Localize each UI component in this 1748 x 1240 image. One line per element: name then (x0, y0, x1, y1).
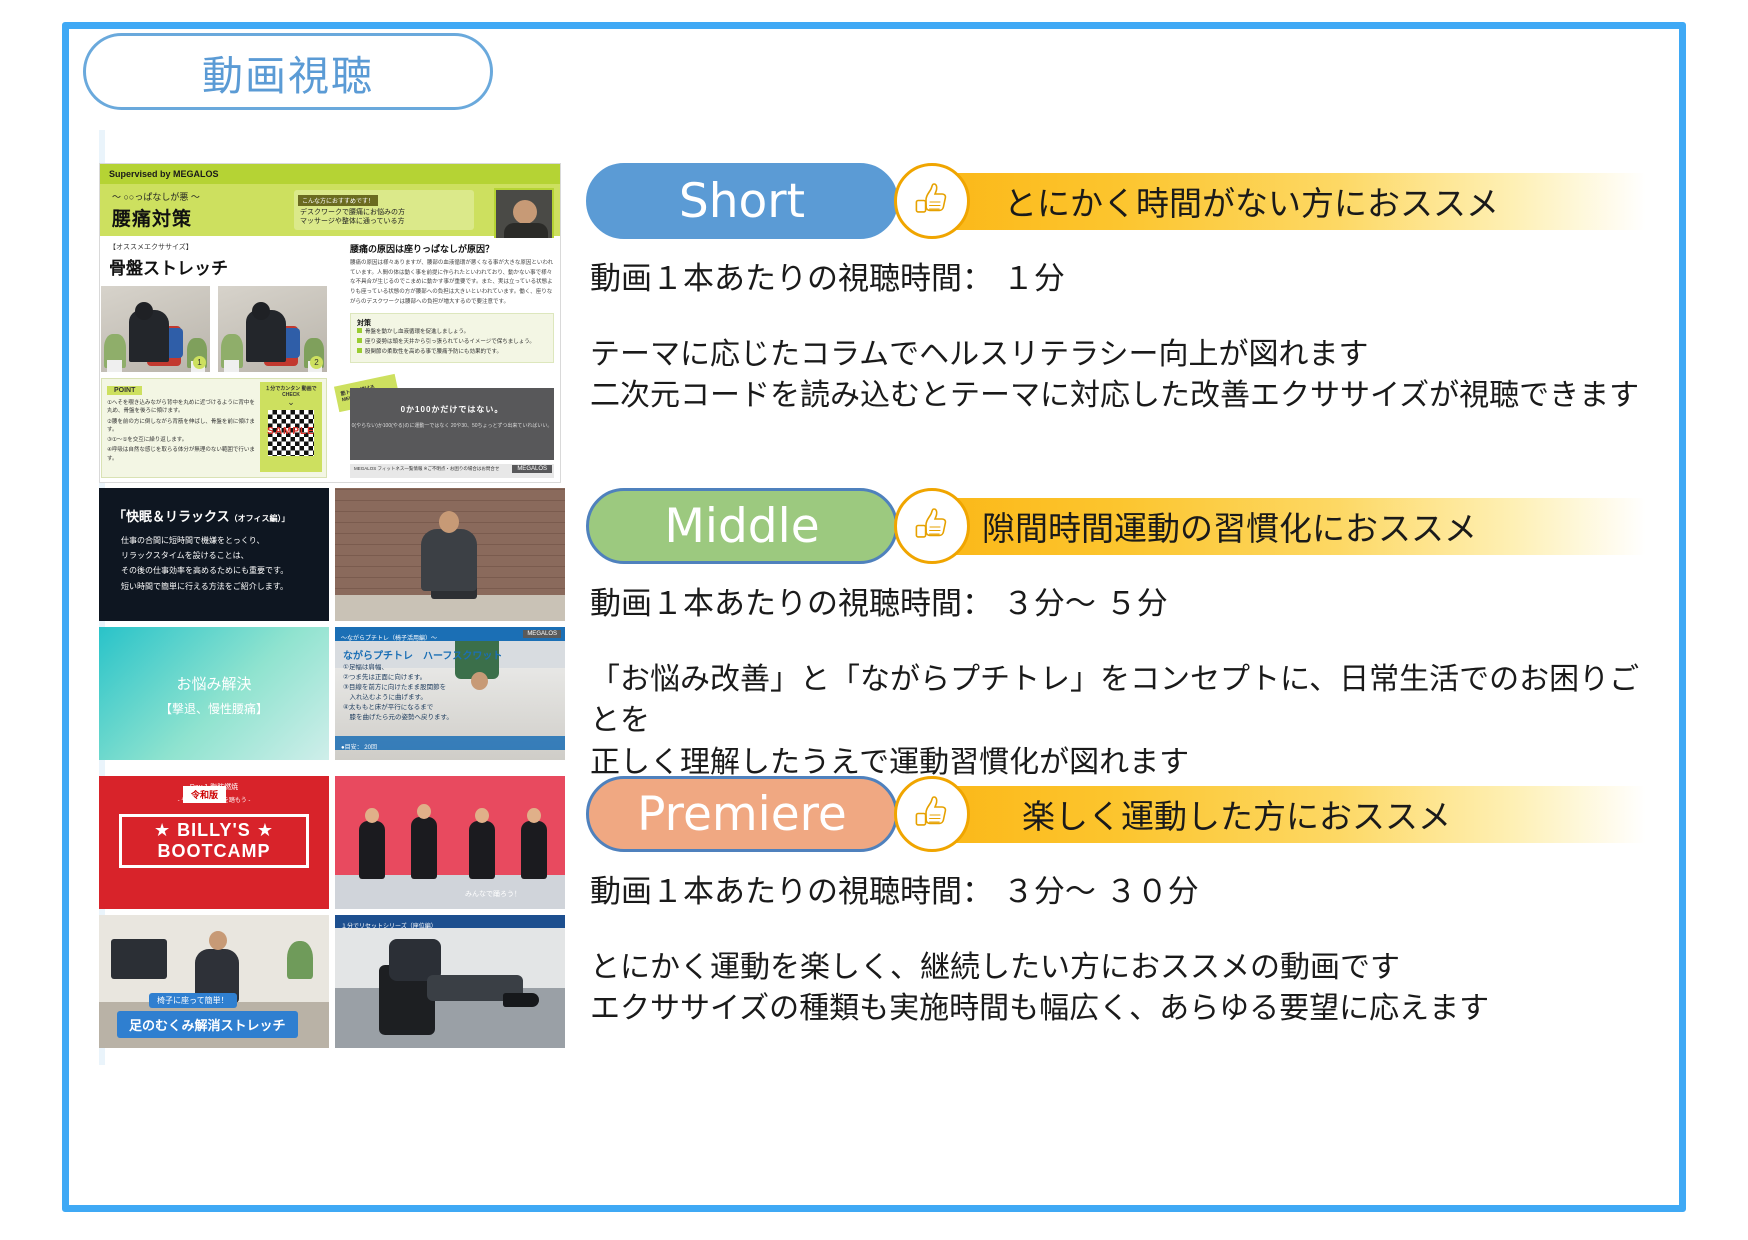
duration-short: 動画１本あたりの視聴時間： １分 (590, 253, 1646, 298)
thumbnail-middle-1[interactable]: 「快眠＆リラックス（オフィス編）」 仕事の合間に短時間で機嫌をとっくり、 リラッ… (99, 488, 329, 621)
description-middle: 「お悩み改善」と「ながらプチトレ」をコンセプトに、日常生活でのお困りごとを 正し… (590, 659, 1646, 783)
doc-column-body: 腰痛の原因は様々ありますが、腰部の血液循環が悪くなる事が大きな原因といわれていま… (350, 259, 554, 307)
category-pill-middle[interactable]: Middle (586, 488, 898, 564)
recommend-banner-premiere: 楽しく運動した方におススメ (912, 786, 1646, 843)
thumbnail-middle-3[interactable]: お悩み解決 【撃退、慢性腰痛】 (99, 627, 329, 760)
person-head-shape (471, 672, 488, 690)
doc-column-title: 腰痛の原因は座りっぱなしが原因？ (350, 242, 554, 255)
premiere3-tag: 椅子に座って簡単！ (149, 993, 237, 1008)
doc-header: 〜 ○○っぱなしが悪 〜 腰痛対策 こんな方におすすめです！ デスクワークで腰痛… (100, 184, 560, 236)
doc-measure-text: 股関節の柔軟性を高める事で腰痛予防にも効果的です。 (365, 349, 502, 355)
doc-quote-box: 0か100かだけではない。 0(やらない)か100(やる)のに運動一ではなく 2… (350, 388, 554, 460)
description-line: とにかく運動を楽しく、継続したい方におススメの動画です (590, 947, 1646, 988)
person-head-shape (252, 302, 270, 320)
thumbnail-premiere-1[interactable]: 令和版 ★ BILLY'S ★ BOOTCAMP Day 1 脂肪燃焼 - やる… (99, 776, 329, 909)
doc-left-column: 【オススメエクササイズ】 骨盤ストレッチ (109, 242, 341, 279)
doc-footer-brand: MEGALOS (512, 465, 552, 473)
doc-exercise-kicker: 【オススメエクササイズ】 (109, 242, 341, 252)
middle4-title: ながらプチトレ ハーフスクワット (343, 647, 502, 662)
recommend-text-premiere: 楽しく運動した方におススメ (1022, 790, 1451, 838)
thumbnail-premiere-3[interactable]: 椅子に座って簡単！ 足のむくみ解消ストレッチ (99, 915, 329, 1048)
middle4-item: ④太ももと床が平行になるまで (343, 701, 433, 711)
thumbnail-middle-4[interactable]: 〜ながらプチトレ（椅子活用編）〜 MEGALOS ながらプチトレ ハーフスクワッ… (335, 627, 565, 760)
middle1-line: リラックスタイムを設けることは、 (121, 548, 329, 563)
thumbs-up-icon (894, 776, 970, 852)
content-short: Short とにかく時間がない方におススメ 動画１本あたりの視聴時間： １分 テ… (586, 163, 1646, 417)
category-label: Premiere (637, 787, 847, 842)
doc-target-item: マッサージや整体に通っている方 (300, 217, 474, 226)
recommend-banner-middle: 隙間時間運動の習慣化におススメ (912, 498, 1646, 555)
person-head-shape (365, 808, 379, 823)
doc-right-column: 腰痛の原因は座りっぱなしが原因？ 腰痛の原因は様々ありますが、腰部の血液循環が悪… (350, 242, 554, 363)
middle4-item: 入れ込むように曲げます。 (343, 691, 427, 701)
description-line: エクササイズの種類も実施時間も幅広く、あらゆる要望に応えます (590, 988, 1646, 1029)
middle4-item: ②つま先は正面に向けます。 (343, 671, 426, 681)
monitor-icon (111, 939, 167, 979)
premiere4-header-bar: １分でリセットシリーズ（座位編） (335, 915, 565, 928)
doc-supervised-text: Supervised by MEGALOS (109, 164, 219, 184)
person-shape (521, 821, 547, 879)
middle1-line: 短い時間で簡単に行える方法をご紹介します。 (121, 579, 329, 594)
section-middle: 「快眠＆リラックス（オフィス編）」 仕事の合間に短時間で機嫌をとっくり、 リラッ… (99, 488, 1644, 771)
section-premiere: 令和版 ★ BILLY'S ★ BOOTCAMP Day 1 脂肪燃焼 - やる… (99, 776, 1644, 1061)
pot-shape (224, 360, 239, 372)
plant-icon (287, 941, 313, 979)
floor-shape (335, 875, 565, 909)
doc-supervised-bar: Supervised by MEGALOS (100, 164, 560, 184)
person-shape (469, 821, 495, 879)
doc-point-label: POINT (107, 386, 142, 395)
slide-root: 動画視聴 Supervised by MEGALOS 〜 ○○っぱなしが悪 〜 … (0, 0, 1748, 1240)
doc-footer: MEGALOS MEGALOS フィットネス一覧情報 ※ご不明点・お困りの場合は… (350, 464, 554, 478)
doc-photo-2: 2 (218, 286, 327, 372)
middle3-line1: お悩み解決 (99, 673, 329, 694)
recommend-text-middle: 隙間時間運動の習慣化におススメ (982, 502, 1477, 550)
recommend-banner-short: とにかく時間がない方におススメ (912, 173, 1646, 230)
premiere4-header-text: １分でリセットシリーズ（座位編） (341, 924, 437, 930)
thumbnail-short-document[interactable]: Supervised by MEGALOS 〜 ○○っぱなしが悪 〜 腰痛対策 … (99, 163, 561, 483)
recommend-text-short: とにかく時間がない方におススメ (1004, 177, 1499, 225)
badge-row-short: Short とにかく時間がない方におススメ (586, 163, 1646, 239)
bullet-icon (357, 338, 362, 343)
doc-quote-body: 0(やらない)か100(やる)のに運動一ではなく 20や30、50ちょっとずつ出… (350, 422, 554, 430)
thumbnail-premiere-4[interactable]: １分でリセットシリーズ（座位編） (335, 915, 565, 1048)
doc-measure-item: 座り姿勢は頭を天井から引っ張られているイメージで保ちましょう。 (357, 338, 547, 348)
premiere1-brand-line2: BOOTCAMP (122, 841, 306, 862)
doc-measure-text: 座り姿勢は頭を天井から引っ張られているイメージで保ちましょう。 (365, 339, 535, 345)
middle4-header-text: 〜ながらプチトレ（椅子活用編）〜 (341, 636, 437, 642)
page-title-pill: 動画視聴 (83, 33, 493, 110)
thumbs-up-icon (894, 163, 970, 239)
person-shape (359, 821, 385, 879)
doc-qr-watermark: SAMPLE (266, 426, 316, 437)
doc-point-line: ③①〜①を交互に繰り返します。 (107, 436, 255, 444)
thumbnail-middle-2[interactable] (335, 488, 565, 621)
content-premiere: Premiere 楽しく運動した方におススメ 動画１本あたりの視聴時間： ３分〜… (586, 776, 1646, 1030)
page-title: 動画視聴 (202, 42, 374, 102)
thumbs-up-icon (894, 488, 970, 564)
duration-premiere: 動画１本あたりの視聴時間： ３分〜 ３０分 (590, 866, 1646, 911)
description-line: テーマに応じたコラムでヘルスリテラシー向上が図れます (590, 334, 1646, 375)
doc-qr-panel[interactable]: １分でカンタン 動画で CHECK ⌄ SAMPLE (260, 382, 322, 472)
doc-measures-box: 対策 骨盤を動かし血液循環を促進しましょう。 座り姿勢は頭を天井から引っ張られて… (350, 313, 554, 363)
middle4-footer-1: ●目安： 20回 (341, 745, 377, 751)
doc-exercise-title: 骨盤ストレッチ (109, 254, 341, 279)
doc-measure-item: 股関節の柔軟性を高める事で腰痛予防にも効果的です。 (357, 348, 547, 358)
doc-target-tag: こんな方におすすめです！ (298, 195, 378, 206)
middle1-title-sub: （オフィス編）」 (230, 514, 290, 523)
middle4-item: ①足幅は肩幅、 (343, 661, 388, 671)
category-label: Middle (664, 499, 819, 554)
person-head-shape (439, 511, 459, 533)
badge-row-middle: Middle 隙間時間運動の習慣化におススメ (586, 488, 1646, 564)
person-head-shape (135, 302, 153, 320)
doc-point-line: ④呼吸は自然な感じを取らる体分が無理のない範囲で行います。 (107, 446, 255, 463)
category-label: Short (679, 174, 805, 229)
bullet-icon (357, 328, 362, 333)
description-line: 二次元コードを読み込むとテーマに対応した改善エクササイズが視聴できます (590, 375, 1646, 416)
photo-step-number: 2 (310, 356, 323, 369)
badge-row-premiere: Premiere 楽しく運動した方におススメ (586, 776, 1646, 852)
description-line: 「お悩み改善」と「ながらプチトレ」をコンセプトに、日常生活でのお困りごとを (590, 659, 1646, 742)
doc-measure-item: 骨盤を動かし血液循環を促進しましょう。 (357, 328, 547, 338)
middle1-line: その後の仕事効率を高めるためにも重要です。 (121, 563, 329, 578)
premiere1-brand-box: ★ BILLY'S ★ BOOTCAMP (119, 814, 309, 868)
doc-point-box: POINT ①へそを覗き込みながら背中を丸めに近づけるように背中を丸め、骨盤を後… (101, 378, 327, 478)
middle1-line: 仕事の合間に短時間で機嫌をとっくり、 (121, 533, 329, 548)
doc-photo-1: 1 (101, 286, 210, 372)
doc-measure-text: 骨盤を動かし血液循環を促進しましょう。 (365, 329, 469, 335)
doc-target-box: こんな方におすすめです！ デスクワークで腰痛にお悩みの方 マッサージや整体に通っ… (294, 190, 474, 230)
description-short: テーマに応じたコラムでヘルスリテラシー向上が図れます 二次元コードを読み込むとテ… (590, 334, 1646, 417)
doc-point-line: ①へそを覗き込みながら背中を丸めに近づけるように背中を丸め、骨盤を後ろに傾けます… (107, 399, 255, 416)
category-pill-premiere[interactable]: Premiere (586, 776, 898, 852)
middle4-brand: MEGALOS (523, 630, 561, 638)
content-middle: Middle 隙間時間運動の習慣化におススメ 動画１本あたりの視聴時間： ３分〜… (586, 488, 1646, 783)
doc-quote-title: 0か100かだけではない。 (350, 404, 554, 415)
premiere3-title: 足のむくみ解消ストレッチ (117, 1011, 298, 1038)
middle3-line2: 【撃退、慢性腰痛】 (99, 700, 329, 717)
middle4-item: 膝を曲げたら元の姿勢へ戻ります。 (343, 711, 453, 721)
premiere2-caption: みんなで踊ろう！ (465, 889, 521, 899)
middle1-title: 「快眠＆リラックス（オフィス編）」 (113, 506, 329, 525)
pot-shape (107, 360, 122, 372)
middle4-footer-bar: ●目安： 20回 (335, 736, 565, 750)
doc-target-item: デスクワークで腰痛にお悩みの方 (300, 208, 474, 217)
thumbnail-premiere-2[interactable]: みんなで踊ろう！ (335, 776, 565, 909)
duration-middle: 動画１本あたりの視聴時間： ３分〜 ５分 (590, 578, 1646, 623)
middle4-item: ③目線を前方に向けたまま股関節を (343, 681, 446, 691)
chevron-down-icon: ⌄ (260, 398, 322, 406)
photo-step-number: 1 (193, 356, 206, 369)
doc-measures-head: 対策 (357, 318, 547, 328)
shoe-shape (503, 993, 539, 1007)
premiere1-era-badge: 令和版 (183, 786, 226, 803)
doc-point-line: ②腰を前の方に倒しながら背筋を伸ばし、骨盤を前に傾けます。 (107, 418, 255, 435)
middle1-title-main: 「快眠＆リラックス (113, 509, 230, 524)
person-head-shape (527, 808, 541, 823)
person-head-shape (209, 931, 227, 950)
person-shape (411, 817, 437, 879)
person-head-shape (417, 804, 431, 819)
person-shape (421, 529, 477, 591)
doc-body: 【オススメエクササイズ】 骨盤ストレッチ 1 (100, 238, 560, 483)
section-short: Supervised by MEGALOS 〜 ○○っぱなしが悪 〜 腰痛対策 … (99, 163, 1644, 483)
description-premiere: とにかく運動を楽しく、継続したい方におススメの動画です エクササイズの種類も実施… (590, 947, 1646, 1030)
premiere1-brand-line1: ★ BILLY'S ★ (122, 820, 306, 841)
category-pill-short[interactable]: Short (586, 163, 898, 239)
avatar-head-shape (513, 200, 537, 224)
person-head-shape (475, 808, 489, 823)
bullet-icon (357, 348, 362, 353)
